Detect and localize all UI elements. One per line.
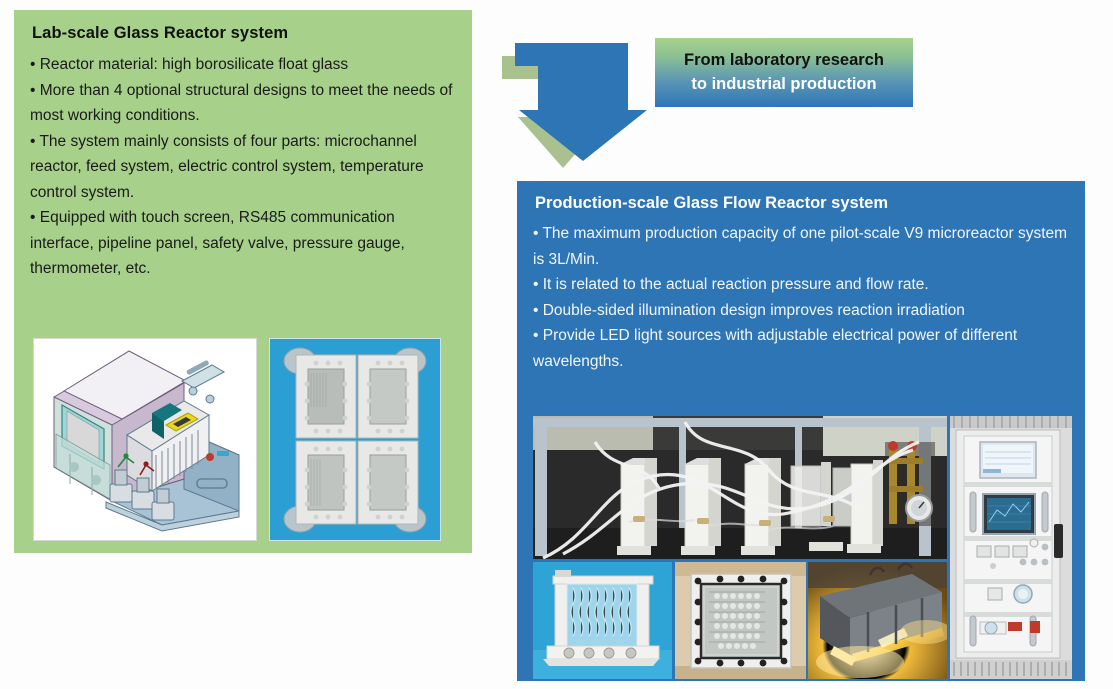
- lab-scale-bullet-2: • More than 4 optional structural design…: [30, 78, 456, 129]
- production-scale-bullet-1: • The maximum production capacity of one…: [533, 221, 1069, 272]
- glass-reactor-plate-photo: [533, 562, 672, 679]
- lab-reactor-cad-render: [33, 338, 257, 541]
- metal-reactor-plate-photo: [675, 562, 806, 679]
- banner-line-1: From laboratory research: [684, 51, 884, 70]
- led-illumination-module-photo: [808, 562, 947, 679]
- production-scale-bullet-4: • Provide LED light sources with adjusta…: [533, 323, 1069, 374]
- lab-scale-panel-title: Lab-scale Glass Reactor system: [32, 24, 456, 43]
- lab-scale-bullet-3: • The system mainly consists of four par…: [30, 129, 456, 206]
- down-arrow-icon: [515, 43, 647, 161]
- production-scale-panel-title: Production-scale Glass Flow Reactor syst…: [535, 194, 1069, 213]
- production-reactor-assembly-photo: [533, 416, 947, 559]
- lab-scale-image-row: [33, 338, 441, 541]
- production-scale-image-grid: [533, 416, 1072, 679]
- slide-canvas: Lab-scale Glass Reactor system • Reactor…: [0, 0, 1113, 689]
- lab-scale-bullet-4: • Equipped with touch screen, RS485 comm…: [30, 205, 456, 282]
- banner-line-2: to industrial production: [691, 75, 876, 94]
- lab-scale-bullet-1: • Reactor material: high borosilicate fl…: [30, 52, 456, 78]
- production-scale-bullet-2: • It is related to the actual reaction p…: [533, 272, 1069, 298]
- microchannel-reactor-plates: [269, 338, 441, 541]
- control-cabinet-photo: [950, 416, 1072, 679]
- transition-arrows: [495, 35, 670, 175]
- production-scale-bullet-3: • Double-sided illumination design impro…: [533, 298, 1069, 324]
- transition-banner: From laboratory research to industrial p…: [655, 38, 913, 107]
